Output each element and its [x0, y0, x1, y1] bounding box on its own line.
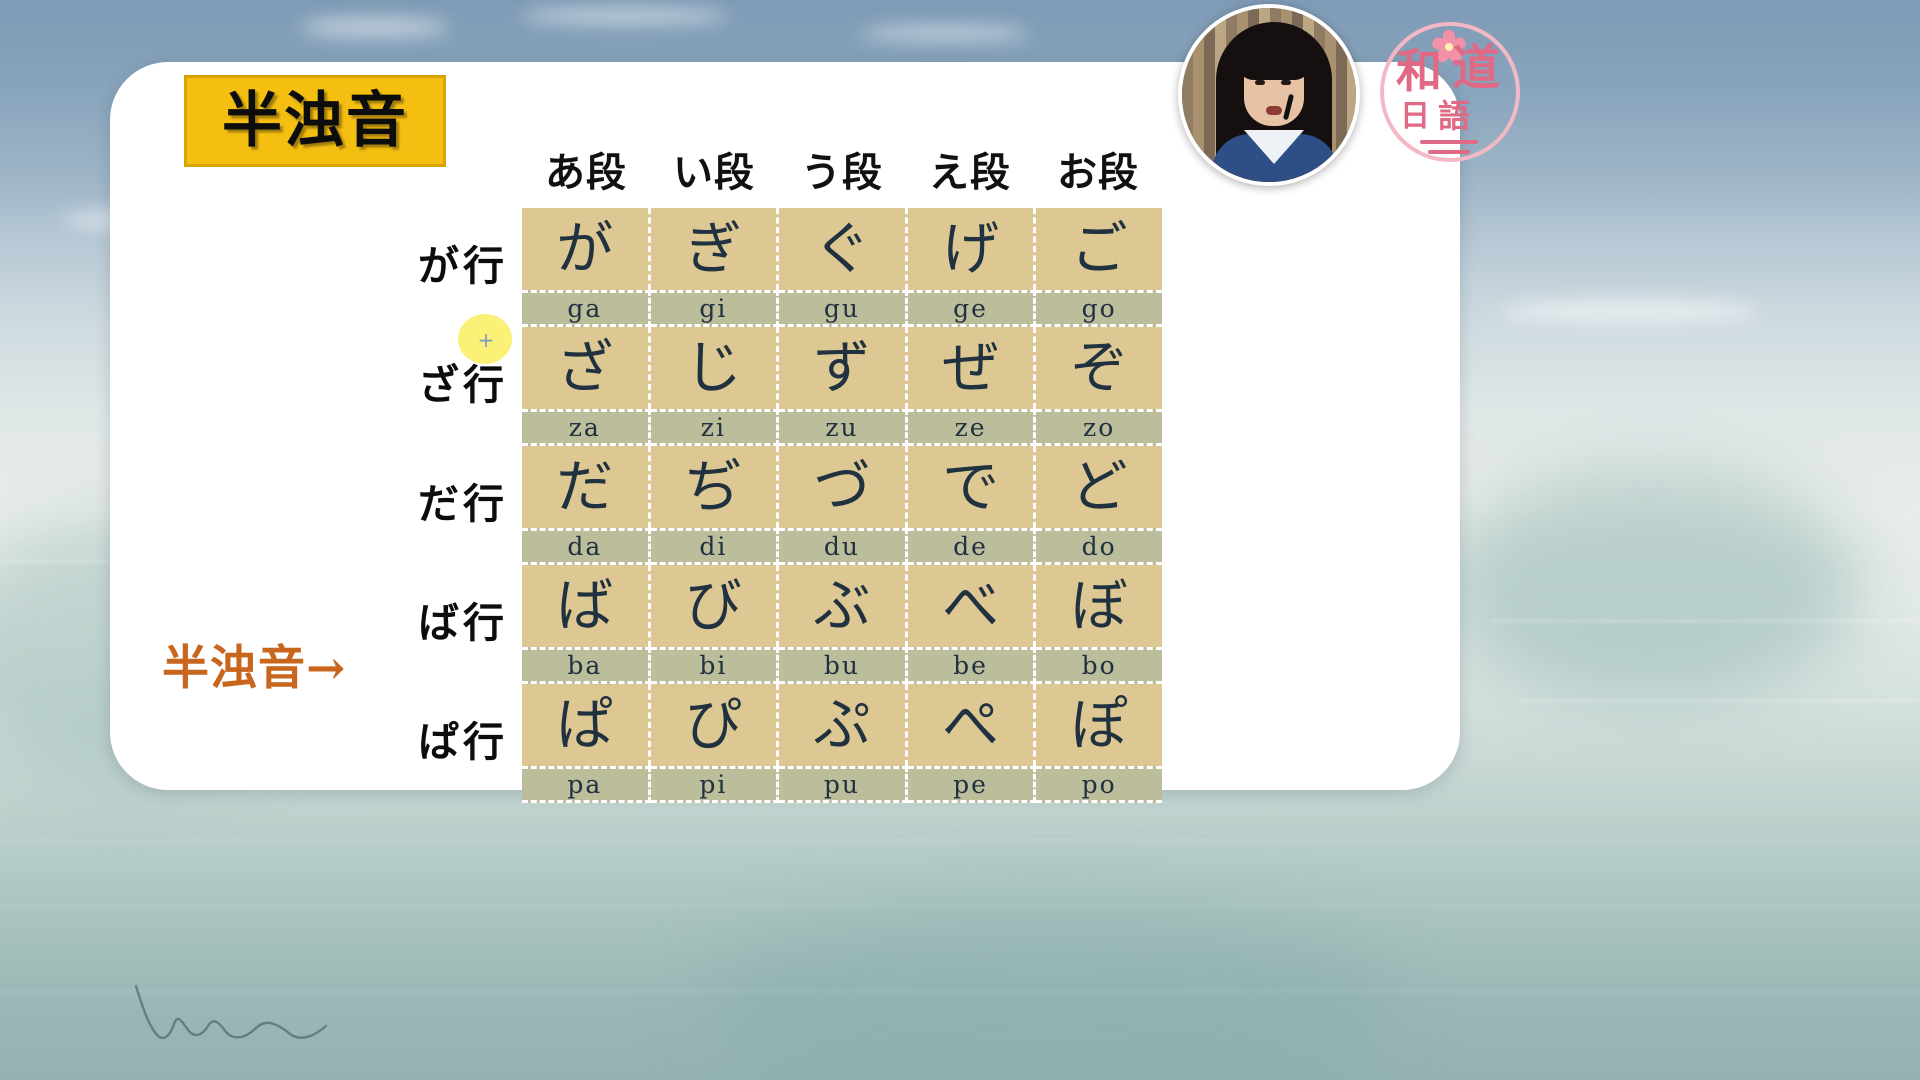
- table-row: da di du de do: [522, 528, 1162, 565]
- kana-cell[interactable]: ぽ: [1036, 684, 1162, 766]
- kana-cell[interactable]: ぎ: [651, 208, 780, 290]
- table-row: za zi zu ze zo: [522, 409, 1162, 446]
- webcam-bubble[interactable]: [1178, 4, 1360, 186]
- handakuon-annotation: 半浊音→: [162, 645, 346, 692]
- kana-cell[interactable]: ぞ: [1036, 327, 1162, 409]
- romaji-cell: ge: [908, 290, 1037, 327]
- water-streak: [0, 990, 1920, 992]
- water-streak: [1490, 620, 1920, 622]
- romaji-cell: ze: [908, 409, 1037, 446]
- signature-scribble: [130, 978, 340, 1048]
- kana-cell[interactable]: ど: [1036, 446, 1162, 528]
- romaji-cell: bo: [1036, 647, 1162, 684]
- title-badge: 半浊音: [184, 75, 446, 167]
- water-streak: [0, 905, 1920, 907]
- kana-cell[interactable]: ぼ: [1036, 565, 1162, 647]
- romaji-cell: ba: [522, 647, 651, 684]
- kana-cell[interactable]: で: [908, 446, 1037, 528]
- kana-cell[interactable]: ず: [779, 327, 908, 409]
- logo-char-he: 和: [1396, 48, 1442, 94]
- water-wash: [1440, 470, 1860, 700]
- kana-cell[interactable]: づ: [779, 446, 908, 528]
- romaji-cell: di: [651, 528, 780, 565]
- column-header-o: お段: [1034, 140, 1162, 198]
- cursor-crosshair-icon: +: [476, 330, 496, 350]
- water-wash: [700, 900, 1400, 1080]
- cloud-decoration: [300, 18, 450, 36]
- cloud-decoration: [860, 26, 1030, 40]
- column-header-i: い段: [650, 140, 778, 198]
- presenter-mouth: [1266, 106, 1282, 115]
- romaji-cell: pu: [779, 766, 908, 803]
- kana-cell[interactable]: ぶ: [779, 565, 908, 647]
- kana-cell[interactable]: ぷ: [779, 684, 908, 766]
- romaji-cell: po: [1036, 766, 1162, 803]
- logo-bar: [1428, 150, 1470, 154]
- table-row: が ぎ ぐ げ ご: [522, 208, 1162, 290]
- logo-bar: [1420, 140, 1478, 144]
- row-label-column: が行 ざ行 だ行 ば行 ぱ行: [362, 202, 512, 797]
- presenter-eye-left: [1255, 80, 1265, 85]
- romaji-cell: go: [1036, 290, 1162, 327]
- kana-cell[interactable]: ぜ: [908, 327, 1037, 409]
- romaji-cell: du: [779, 528, 908, 565]
- table-row: pa pi pu pe po: [522, 766, 1162, 803]
- column-header-a: あ段: [522, 140, 650, 198]
- kana-cell[interactable]: ぴ: [651, 684, 780, 766]
- table-row: だ ぢ づ で ど: [522, 446, 1162, 528]
- table-row: ぱ ぴ ぷ ぺ ぽ: [522, 684, 1162, 766]
- brand-logo: 和 道 日 語: [1380, 22, 1520, 162]
- title-badge-label: 半浊音: [222, 91, 408, 151]
- romaji-cell: za: [522, 409, 651, 446]
- logo-char-dao: 道: [1452, 44, 1500, 92]
- kana-cell[interactable]: げ: [908, 208, 1037, 290]
- romaji-cell: pe: [908, 766, 1037, 803]
- slide-stage: 半浊音 あ段 い段 う段 え段 お段 が行 ざ行 だ行 ば行 ぱ行 が ぎ ぐ …: [0, 0, 1920, 1080]
- row-label-ba: ば行: [362, 559, 512, 678]
- romaji-cell: ga: [522, 290, 651, 327]
- water-streak: [0, 840, 1920, 842]
- kana-cell[interactable]: ご: [1036, 208, 1162, 290]
- kana-cell[interactable]: ぢ: [651, 446, 780, 528]
- romaji-cell: pa: [522, 766, 651, 803]
- kana-cell[interactable]: ぺ: [908, 684, 1037, 766]
- romaji-cell: bi: [651, 647, 780, 684]
- table-row: ga gi gu ge go: [522, 290, 1162, 327]
- kana-table: が ぎ ぐ げ ご ga gi gu ge go ざ じ ず ぜ ぞ: [522, 208, 1162, 803]
- romaji-cell: gi: [651, 290, 780, 327]
- cloud-decoration: [520, 8, 730, 24]
- row-label-da: だ行: [362, 440, 512, 559]
- row-label-ga: が行: [362, 202, 512, 321]
- kana-cell[interactable]: ざ: [522, 327, 651, 409]
- romaji-cell: do: [1036, 528, 1162, 565]
- kana-cell[interactable]: ば: [522, 565, 651, 647]
- romaji-cell: zo: [1036, 409, 1162, 446]
- romaji-cell: bu: [779, 647, 908, 684]
- row-label-pa: ぱ行: [362, 678, 512, 797]
- column-header-u: う段: [778, 140, 906, 198]
- column-header-row: あ段 い段 う段 え段 お段: [522, 140, 1162, 198]
- kana-cell[interactable]: じ: [651, 327, 780, 409]
- kana-cell[interactable]: が: [522, 208, 651, 290]
- logo-char-yu: 語: [1438, 100, 1470, 132]
- kana-cell[interactable]: べ: [908, 565, 1037, 647]
- romaji-cell: pi: [651, 766, 780, 803]
- table-row: ざ じ ず ぜ ぞ: [522, 327, 1162, 409]
- column-header-e: え段: [906, 140, 1034, 198]
- kana-cell[interactable]: ぱ: [522, 684, 651, 766]
- kana-cell[interactable]: ぐ: [779, 208, 908, 290]
- romaji-cell: de: [908, 528, 1037, 565]
- logo-char-ri: 日: [1400, 102, 1430, 132]
- romaji-cell: be: [908, 647, 1037, 684]
- kana-cell[interactable]: び: [651, 565, 780, 647]
- romaji-cell: gu: [779, 290, 908, 327]
- romaji-cell: da: [522, 528, 651, 565]
- romaji-cell: zu: [779, 409, 908, 446]
- romaji-cell: zi: [651, 409, 780, 446]
- water-streak: [1520, 700, 1920, 702]
- kana-cell[interactable]: だ: [522, 446, 651, 528]
- presenter-eye-right: [1281, 80, 1291, 85]
- table-row: ば び ぶ べ ぼ: [522, 565, 1162, 647]
- cloud-decoration: [1500, 300, 1760, 322]
- table-row: ba bi bu be bo: [522, 647, 1162, 684]
